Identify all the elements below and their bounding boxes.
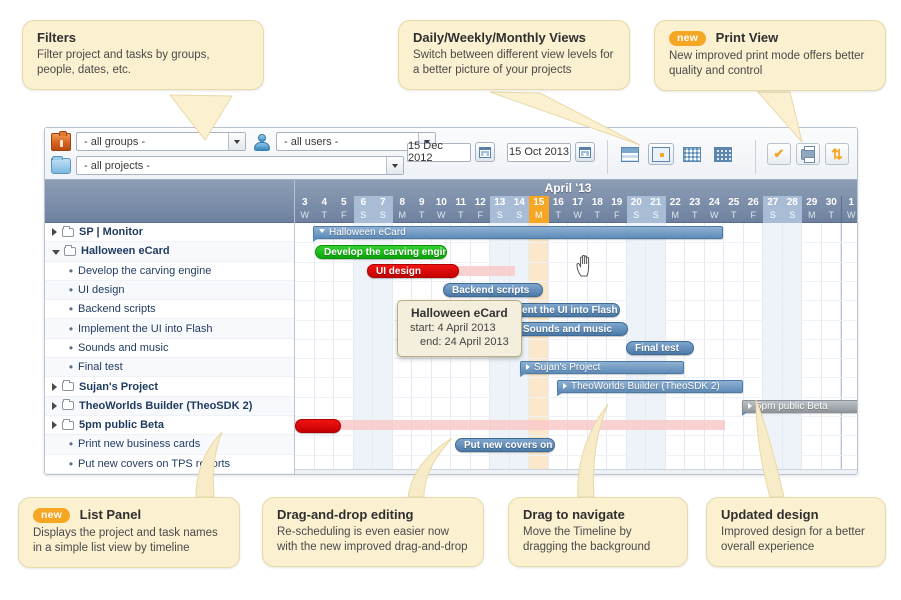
chevron-right-icon[interactable] <box>563 383 567 389</box>
timeline-day-cell: 6S <box>354 196 374 223</box>
list-row-label: Put new covers on TPS reports <box>78 458 230 470</box>
day-number: 8 <box>393 196 413 209</box>
timeline-header: April '13 3W4T5F6S7S8M9T10W11T12F13S14S1… <box>295 180 857 223</box>
timeline-day-cell: 10W <box>432 196 452 223</box>
timeline-day-cell: 19F <box>607 196 627 223</box>
timeline-day-cell: 20S <box>627 196 647 223</box>
day-number: 11 <box>451 196 471 209</box>
callout-body: Displays the project and task names in a… <box>33 526 225 556</box>
chevron-right-icon[interactable] <box>748 403 752 409</box>
gantt-task-bar[interactable] <box>295 419 341 433</box>
timeline-day-cell: 16T <box>549 196 569 223</box>
list-row-project[interactable]: TheoWorlds Builder (TheoSDK 2) <box>45 397 294 416</box>
toolbar-separator-2 <box>745 140 766 174</box>
list-row-label: SP | Monitor <box>79 226 143 238</box>
month-label: April '13 <box>295 181 841 195</box>
day-weekday: T <box>588 209 608 221</box>
day-weekday: F <box>471 209 491 221</box>
chevron-right-icon[interactable] <box>52 228 57 236</box>
day-number: 3 <box>295 196 315 209</box>
list-row-label: Develop the carving engine <box>78 265 211 277</box>
list-row-task[interactable]: •Sounds and music <box>45 339 294 358</box>
day-number: 24 <box>705 196 725 209</box>
chevron-down-icon[interactable] <box>319 229 325 233</box>
bullet-icon: • <box>66 437 76 451</box>
gantt-task-bar[interactable]: Backend scripts <box>443 283 543 297</box>
timeline-day-cell: 5F <box>334 196 354 223</box>
groups-select-value: - all groups - <box>84 136 145 148</box>
row-separator <box>295 281 857 282</box>
list-row-task[interactable]: •Implement the UI into Flash <box>45 319 294 338</box>
callout-title: Updated design <box>721 507 871 522</box>
day-weekday: M <box>393 209 413 221</box>
callout-body: Improved design for a better overall exp… <box>721 525 871 555</box>
gantt-task-bar[interactable]: Develop the carving engine <box>315 245 447 259</box>
groups-select[interactable]: - all groups - <box>76 132 246 151</box>
callout-title-text: List Panel <box>80 507 141 522</box>
day-number: 25 <box>724 196 744 209</box>
callout-title: Drag to navigate <box>523 507 673 522</box>
day-number: 30 <box>822 196 842 209</box>
chevron-down-icon[interactable] <box>52 250 60 255</box>
gantt-bar-label: Sujan's Project <box>534 362 600 373</box>
tooltip-start: start: 4 April 2013 <box>410 321 509 335</box>
gantt-app-window: - all groups - - all users - - all proje… <box>44 127 858 475</box>
day-weekday: W <box>432 209 452 221</box>
timeline-day-cell: 29M <box>802 196 822 223</box>
day-number: 28 <box>783 196 803 209</box>
day-weekday: T <box>822 209 842 221</box>
row-separator <box>295 416 857 417</box>
timeline-day-cell: 28S <box>783 196 803 223</box>
list-row-label: Halloween eCard <box>81 245 170 257</box>
list-row-task[interactable]: •Backend scripts <box>45 300 294 319</box>
gantt-bar-label: UI design <box>376 266 421 277</box>
day-weekday: M <box>666 209 686 221</box>
callout-views: Daily/Weekly/Monthly Views Switch betwee… <box>398 20 630 90</box>
timeline-day-cell: 30T <box>822 196 842 223</box>
list-row-label: Backend scripts <box>78 303 156 315</box>
user-icon <box>253 133 271 151</box>
day-number: 14 <box>510 196 530 209</box>
day-weekday: W <box>842 209 857 221</box>
row-separator <box>295 242 857 243</box>
callout-drag-to-navigate: Drag to navigate Move the Timeline by dr… <box>508 497 688 567</box>
callout-title: Drag-and-drop editing <box>277 507 469 522</box>
list-row-label: Sounds and music <box>78 342 169 354</box>
list-row-label: 5pm public Beta <box>79 419 164 431</box>
day-number: 26 <box>744 196 764 209</box>
timeline-day-cell: 25T <box>724 196 744 223</box>
list-row-project[interactable]: SP | Monitor <box>45 223 294 242</box>
row-separator <box>295 377 857 378</box>
new-badge: new <box>33 508 70 523</box>
day-number: 13 <box>490 196 510 209</box>
toolbar-row-filters: - all groups - - all users - <box>51 132 436 151</box>
day-weekday: S <box>490 209 510 221</box>
briefcase-icon <box>51 133 71 151</box>
list-panel-header <box>45 180 294 223</box>
gantt-bar-label: TheoWorlds Builder (TheoSDK 2) <box>571 381 720 392</box>
folder-icon <box>51 158 71 174</box>
day-number: 17 <box>568 196 588 209</box>
day-weekday: S <box>763 209 783 221</box>
bullet-icon: • <box>66 457 76 471</box>
row-separator <box>295 300 857 301</box>
callout-title: new Print View <box>669 30 871 46</box>
day-number: 6 <box>354 196 374 209</box>
day-weekday: M <box>529 209 549 221</box>
callout-title-text: Updated design <box>721 507 819 522</box>
day-number: 20 <box>627 196 647 209</box>
view-button-daily[interactable] <box>648 143 674 165</box>
callout-list-panel: new List Panel Displays the project and … <box>18 497 240 568</box>
timeline-day-cell: 1W <box>841 196 857 223</box>
day-weekday: M <box>802 209 822 221</box>
gantt-task-bar[interactable]: Sounds and music <box>514 322 628 336</box>
day-weekday: W <box>705 209 725 221</box>
day-weekday: S <box>783 209 803 221</box>
row-separator <box>295 455 857 456</box>
chevron-right-icon[interactable] <box>526 364 530 370</box>
folder-icon <box>62 382 74 391</box>
bullet-icon: • <box>66 302 76 316</box>
day-number: 16 <box>549 196 569 209</box>
gantt-task-bar[interactable]: Final test <box>626 341 694 355</box>
timeline-day-cell: 13S <box>490 196 510 223</box>
day-weekday: S <box>373 209 393 221</box>
callout-body: Move the Timeline by dragging the backgr… <box>523 525 673 555</box>
day-number: 18 <box>588 196 608 209</box>
toolbar-separator-1 <box>597 140 618 174</box>
timeline-day-cell: 26F <box>744 196 764 223</box>
row-separator <box>295 397 857 398</box>
gantt-bar-label: Put new covers on <box>464 440 552 451</box>
day-number: 10 <box>432 196 452 209</box>
day-weekday: S <box>510 209 530 221</box>
chevron-right-icon[interactable] <box>52 383 57 391</box>
toolbar-date-range: 15 Dec 2012 15 Oct 2013 <box>407 142 595 162</box>
callout-title-text: Drag-and-drop editing <box>277 507 414 522</box>
day-number: 23 <box>685 196 705 209</box>
row-separator <box>295 339 857 340</box>
timeline-panel[interactable]: April '13 3W4T5F6S7S8M9T10W11T12F13S14S1… <box>295 180 857 474</box>
callout-title-text: Filters <box>37 30 76 45</box>
bullet-icon: • <box>66 283 76 297</box>
gantt-summary-bar[interactable]: Sujan's Project <box>520 361 684 374</box>
users-select-value: - all users - <box>284 136 338 148</box>
day-weekday: T <box>412 209 432 221</box>
bullet-icon: • <box>66 264 76 278</box>
callout-body: Filter project and tasks by groups, peop… <box>37 48 249 78</box>
list-row-project[interactable]: Halloween eCard <box>45 242 294 261</box>
calendar-to-button[interactable] <box>575 142 595 162</box>
day-weekday: T <box>549 209 569 221</box>
folder-icon <box>64 247 76 256</box>
timeline-day-cell: 22M <box>666 196 686 223</box>
list-row-task[interactable]: •UI design <box>45 281 294 300</box>
day-weekday: T <box>724 209 744 221</box>
gantt-summary-bar[interactable]: 5pm public Beta <box>742 400 857 413</box>
list-row-label: Print new business cards <box>78 438 200 450</box>
timeline-day-cell: 8M <box>393 196 413 223</box>
day-weekday: F <box>744 209 764 221</box>
projects-select-value: - all projects - <box>84 160 150 172</box>
row-separator <box>295 320 857 321</box>
date-to-input[interactable]: 15 Oct 2013 <box>507 143 571 162</box>
toolbar: - all groups - - all users - - all proje… <box>45 128 857 180</box>
timeline-day-cell: 4T <box>315 196 335 223</box>
list-row-task[interactable]: •Put new covers on TPS reports <box>45 455 294 474</box>
toolbar-row-projects: - all projects - <box>51 156 404 175</box>
day-number: 21 <box>646 196 666 209</box>
callout-body: Re-scheduling is even easier now with th… <box>277 525 469 555</box>
list-panel: SP | MonitorHalloween eCard•Develop the … <box>45 180 295 474</box>
apply-check-button[interactable]: ✔ <box>767 143 791 165</box>
list-row-label: TheoWorlds Builder (TheoSDK 2) <box>79 400 252 412</box>
timeline-day-cell: 12F <box>471 196 491 223</box>
hand-cursor-icon <box>575 252 597 278</box>
callout-body: New improved print mode offers better qu… <box>669 49 871 79</box>
action-buttons: ✔ ⇅ <box>767 143 854 165</box>
calendar-from-button[interactable] <box>475 142 495 162</box>
timeline-day-cell: 11T <box>451 196 471 223</box>
callout-print-view: new Print View New improved print mode o… <box>654 20 886 91</box>
list-row-label: Sujan's Project <box>79 381 158 393</box>
chevron-right-icon[interactable] <box>52 402 57 410</box>
day-number: 22 <box>666 196 686 209</box>
list-row-label: Final test <box>78 361 123 373</box>
timeline-day-cell: 21S <box>646 196 666 223</box>
day-number: 9 <box>412 196 432 209</box>
gantt-task-bar[interactable]: Put new covers on <box>455 438 555 452</box>
row-separator <box>295 435 857 436</box>
task-ghost-band <box>295 420 725 430</box>
gantt-task-bar[interactable]: UI design <box>367 264 459 278</box>
gantt-bar-label: Develop the carving engine <box>324 247 447 258</box>
bullet-icon: • <box>66 322 76 336</box>
day-weekday: S <box>646 209 666 221</box>
timeline-day-cell: 14S <box>510 196 530 223</box>
folder-icon <box>62 228 74 237</box>
projects-select[interactable]: - all projects - <box>76 156 404 175</box>
day-number: 27 <box>763 196 783 209</box>
task-tooltip: Halloween eCard start: 4 April 2013 end:… <box>397 300 522 357</box>
list-row-task[interactable]: •Final test <box>45 358 294 377</box>
day-weekday: F <box>607 209 627 221</box>
bullet-icon: • <box>66 341 76 355</box>
new-badge: new <box>669 31 706 46</box>
callout-body: Switch between different view levels for… <box>413 48 615 78</box>
list-row-label: Implement the UI into Flash <box>78 323 213 335</box>
day-number: 15 <box>529 196 549 209</box>
list-row-label: UI design <box>78 284 124 296</box>
chevron-down-icon[interactable] <box>386 157 403 174</box>
day-number: 29 <box>802 196 822 209</box>
screenshot-root: Filters Filter project and tasks by grou… <box>0 0 901 600</box>
day-number: 1 <box>842 196 857 209</box>
print-button[interactable] <box>796 143 820 165</box>
refresh-button[interactable]: ⇅ <box>825 143 849 165</box>
callout-filters: Filters Filter project and tasks by grou… <box>22 20 264 90</box>
gantt-bar-label: 5pm public Beta <box>756 401 828 412</box>
gantt-bar-label: Final test <box>635 343 679 354</box>
gantt-summary-bar[interactable]: Halloween eCard <box>313 226 723 239</box>
list-row-task[interactable]: •Print new business cards <box>45 435 294 454</box>
day-number: 4 <box>315 196 335 209</box>
day-weekday: F <box>334 209 354 221</box>
timeline-day-cell: 3W <box>295 196 315 223</box>
day-number: 7 <box>373 196 393 209</box>
folder-icon <box>62 421 74 430</box>
callout-updated-design: Updated design Improved design for a bet… <box>706 497 886 567</box>
timeline-day-cell: 9T <box>412 196 432 223</box>
bullet-icon: • <box>66 360 76 374</box>
day-number: 5 <box>334 196 354 209</box>
list-panel-rows: SP | MonitorHalloween eCard•Develop the … <box>45 223 294 474</box>
date-from-input[interactable]: 15 Dec 2012 <box>407 143 471 162</box>
tooltip-title: Halloween eCard <box>410 306 509 320</box>
timeline-day-cell: 27S <box>763 196 783 223</box>
gantt-bar-label: Backend scripts <box>452 285 529 296</box>
view-button-weekly[interactable] <box>679 143 705 165</box>
tooltip-end: end: 24 April 2013 <box>410 335 509 349</box>
day-weekday: T <box>685 209 705 221</box>
callout-drag-and-drop: Drag-and-drop editing Re-scheduling is e… <box>262 497 484 567</box>
timeline-month-row: April '13 <box>295 180 857 196</box>
view-button-split[interactable] <box>617 143 643 165</box>
timeline-day-cell: 24W <box>705 196 725 223</box>
timeline-day-cell: 7S <box>373 196 393 223</box>
gantt-bar-label: Halloween eCard <box>329 227 406 238</box>
timeline-day-cell: 23T <box>685 196 705 223</box>
day-weekday: W <box>568 209 588 221</box>
day-weekday: S <box>627 209 647 221</box>
callout-title-text: Drag to navigate <box>523 507 625 522</box>
list-row-project[interactable]: 5pm public Beta <box>45 416 294 435</box>
chevron-right-icon[interactable] <box>52 421 57 429</box>
day-weekday: T <box>451 209 471 221</box>
callout-title: Filters <box>37 30 249 45</box>
chevron-down-icon[interactable] <box>228 133 245 150</box>
view-mode-buttons <box>617 143 741 165</box>
folder-icon <box>62 401 74 410</box>
gantt-summary-bar[interactable]: TheoWorlds Builder (TheoSDK 2) <box>557 380 743 393</box>
callout-title-text: Daily/Weekly/Monthly Views <box>413 30 586 45</box>
view-button-monthly[interactable] <box>710 143 736 165</box>
day-weekday: S <box>354 209 374 221</box>
timeline-day-cell: 17W <box>568 196 588 223</box>
day-weekday: W <box>295 209 315 221</box>
timeline-day-cells: 3W4T5F6S7S8M9T10W11T12F13S14S15M16T17W18… <box>295 196 857 223</box>
row-separator <box>295 358 857 359</box>
day-weekday: T <box>315 209 335 221</box>
callout-title: Daily/Weekly/Monthly Views <box>413 30 615 45</box>
gantt-bar-label: Sounds and music <box>523 324 612 335</box>
timeline-day-cell: 15M <box>529 196 549 223</box>
list-row-task[interactable]: •Develop the carving engine <box>45 262 294 281</box>
day-number: 12 <box>471 196 491 209</box>
list-row-project[interactable]: Sujan's Project <box>45 377 294 396</box>
callout-title: new List Panel <box>33 507 225 523</box>
callout-title-text: Print View <box>716 30 779 45</box>
timeline-day-cell: 18T <box>588 196 608 223</box>
day-number: 19 <box>607 196 627 209</box>
